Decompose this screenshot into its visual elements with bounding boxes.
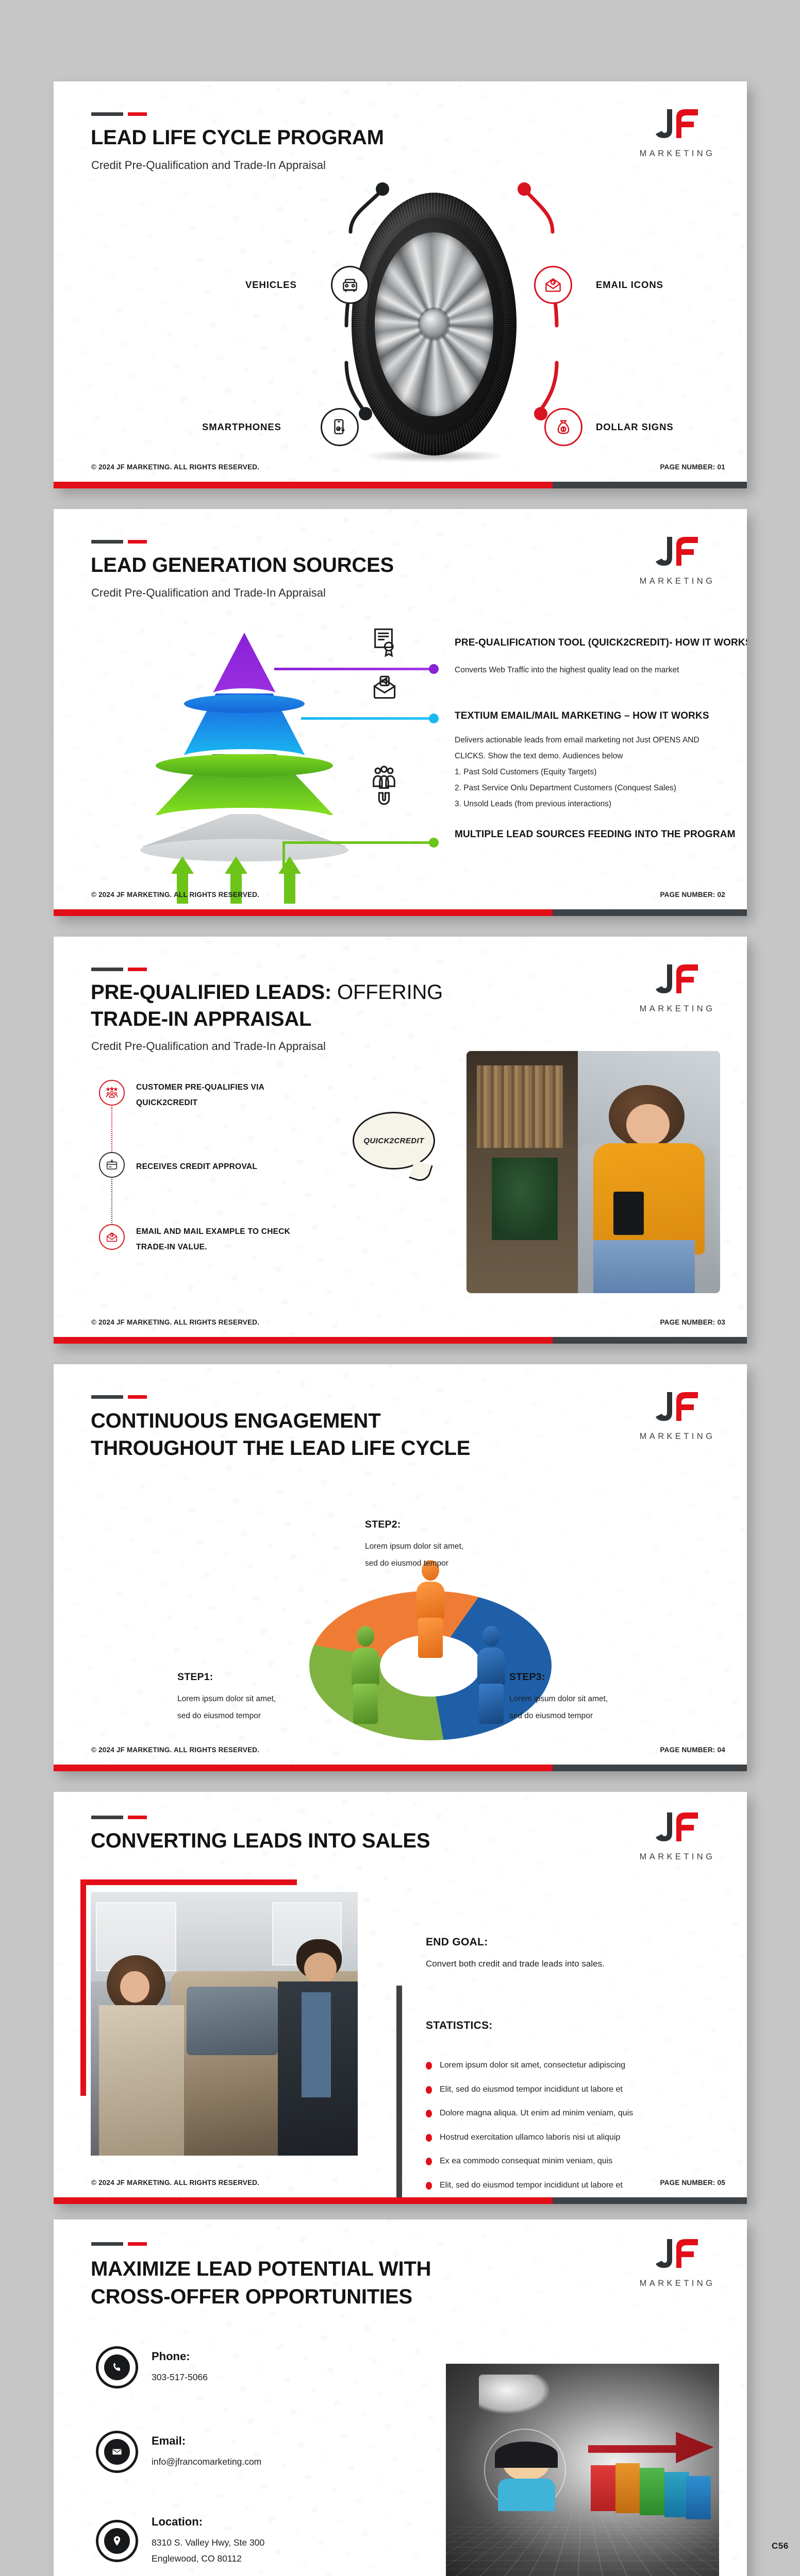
contact-value-email[interactable]: info@jfrancomarketing.com — [152, 2454, 261, 2470]
envelope-icon — [96, 2431, 138, 2473]
contact-label-phone: Phone: — [152, 2350, 208, 2363]
end-goal-label: END GOAL: — [426, 1936, 488, 1948]
list-item-text: Ex ea commodo consequat minim veniam, qu… — [440, 2156, 612, 2167]
slide-6[interactable]: MAXIMIZE LEAD POTENTIAL WITH CROSS-OFFER… — [54, 2219, 747, 2576]
jf-monogram-icon — [652, 106, 703, 145]
page-title: LEAD GENERATION SOURCES — [91, 553, 394, 578]
item-body-line: 3. Unsold Leads (from previous interacti… — [455, 796, 747, 812]
statistics-label: STATISTICS: — [426, 2020, 493, 2032]
connector-endpoint-bottom-left — [359, 407, 372, 420]
node-label-email-icons: EMAIL ICONS — [596, 279, 663, 291]
footer-copyright: © 2024 JF MARKETING. ALL RIGHTS RESERVED… — [91, 1318, 259, 1326]
bullet-dot-icon — [426, 2134, 432, 2142]
person-figure-orange — [414, 1560, 446, 1658]
item-heading: MULTIPLE LEAD SOURCES FEEDING INTO THE P… — [455, 827, 747, 842]
page-title: CONVERTING LEADS INTO SALES — [91, 1829, 430, 1853]
person-figure-green — [349, 1626, 381, 1724]
step-body-2: Lorem ipsum dolor sit amet, sed do eiusm… — [365, 1538, 463, 1572]
node-dollar-signs[interactable] — [544, 408, 582, 446]
step-body-3: Lorem ipsum dolor sit amet, sed do eiusm… — [509, 1691, 608, 1724]
step-divider — [111, 1107, 112, 1158]
item-body-line: 1. Past Sold Customers (Equity Targets) — [455, 764, 747, 780]
step-text-credit-approval: RECEIVES CREDIT APPROVAL — [136, 1159, 257, 1175]
audience-magnet-icon — [369, 765, 399, 809]
connector-blue — [301, 717, 434, 720]
contact-value-phone[interactable]: 303-517-5066 — [152, 2369, 208, 2385]
speech-bubble-text: QUICK2CREDIT — [363, 1137, 424, 1145]
footer-page-number: PAGE NUMBER: 05 — [660, 2179, 725, 2187]
contact-phone[interactable]: Phone: 303-517-5066 — [96, 2346, 208, 2388]
footer-copyright: © 2024 JF MARKETING. ALL RIGHTS RESERVED… — [91, 1746, 259, 1754]
brand-logo[interactable]: MARKETING — [628, 2236, 726, 2289]
page-subtitle: Credit Pre-Qualification and Trade-In Ap… — [91, 1040, 326, 1053]
jf-monogram-icon — [652, 534, 703, 573]
presentation-deck: LEAD LIFE CYCLE PROGRAM Credit Pre-Quali… — [0, 0, 800, 2576]
footer-page-number: PAGE NUMBER: 04 — [660, 1746, 725, 1754]
slide-5[interactable]: CONVERTING LEADS INTO SALES MARKETING — [54, 1792, 747, 2204]
document-code-label: C56 — [772, 2541, 789, 2551]
step-divider — [111, 1179, 112, 1229]
list-item: Lorem ipsum dolor sit amet, consectetur … — [426, 2060, 735, 2071]
connector-green — [282, 841, 434, 844]
step-text-email-mail: EMAIL AND MAIL EXAMPLE TO CHECK TRADE-IN… — [136, 1224, 290, 1255]
connector-endpoint-top-left — [376, 182, 389, 196]
node-email-icons[interactable] — [534, 266, 572, 304]
list-item-text: Elit, sed do eiusmod tempor incididunt u… — [440, 2180, 623, 2191]
end-goal-text: Convert both credit and trade leads into… — [426, 1959, 605, 1969]
email-icon — [543, 275, 563, 295]
footer-page-number: PAGE NUMBER: 01 — [660, 463, 725, 471]
page-subtitle: Credit Pre-Qualification and Trade-In Ap… — [91, 159, 326, 172]
brand-logo[interactable]: MARKETING — [628, 1389, 726, 1442]
smartphone-icon — [330, 417, 349, 437]
footer-bar — [54, 1337, 747, 1344]
item-heading: PRE-QUALIFICATION TOOL (QUICK2CREDIT)- H… — [455, 636, 747, 651]
page-title: MAXIMIZE LEAD POTENTIAL WITH CROSS-OFFER… — [91, 2256, 431, 2311]
step-icon-prequalify[interactable] — [99, 1080, 125, 1106]
node-vehicles[interactable] — [331, 266, 369, 304]
title-rule — [91, 540, 147, 544]
jf-monogram-icon — [652, 2236, 703, 2275]
connector-endpoint-top-right — [518, 182, 531, 196]
title-rule — [91, 968, 147, 971]
item-body-line: Converts Web Traffic into the highest qu… — [455, 662, 747, 678]
page-title: LEAD LIFE CYCLE PROGRAM — [91, 126, 384, 150]
list-item-text: Dolore magna aliqua. Ut enim ad minim ve… — [440, 2108, 633, 2119]
slide-3[interactable]: PRE-QUALIFIED LEADS: OFFERINGTRADE-IN AP… — [54, 937, 747, 1344]
item-multiple-lead-sources: MULTIPLE LEAD SOURCES FEEDING INTO THE P… — [455, 827, 747, 842]
footer-page-number: PAGE NUMBER: 03 — [660, 1318, 725, 1326]
node-label-vehicles: VEHICLES — [245, 279, 297, 291]
step-label-3: STEP3: — [509, 1671, 545, 1683]
list-item-text: Elit, sed do eiusmod tempor incididunt u… — [440, 2084, 623, 2095]
dealership-photo — [91, 1892, 358, 2156]
footer-copyright: © 2024 JF MARKETING. ALL RIGHTS RESERVED… — [91, 463, 259, 471]
success-infographic-photo — [446, 2364, 719, 2576]
bullet-dot-icon — [426, 2158, 432, 2165]
brand-logo-subtext: MARKETING — [628, 2279, 726, 2289]
money-bag-icon — [554, 417, 573, 437]
title-rule — [91, 2242, 147, 2246]
contact-label-email: Email: — [152, 2434, 261, 2448]
slide-4[interactable]: CONTINUOUS ENGAGEMENT THROUGHOUT THE LEA… — [54, 1364, 747, 1771]
item-textium-marketing: TEXTIUM EMAIL/MAIL MARKETING – HOW IT WO… — [455, 709, 747, 812]
page-title-strong: PRE-QUALIFIED LEADS: — [91, 981, 331, 1004]
audience-star-icon — [105, 1086, 119, 1099]
brand-logo-subtext: MARKETING — [628, 1852, 726, 1862]
footer-page-number: PAGE NUMBER: 02 — [660, 891, 725, 899]
title-rule — [91, 1816, 147, 1819]
step-label-1: STEP1: — [177, 1671, 213, 1683]
list-item-text: Hostrud exercitation ullamco laboris nis… — [440, 2132, 620, 2143]
brand-logo-subtext: MARKETING — [628, 149, 726, 159]
customer-photo — [466, 1051, 720, 1293]
credit-card-icon — [105, 1158, 119, 1172]
email-megaphone-icon — [370, 674, 399, 703]
slide-1[interactable]: LEAD LIFE CYCLE PROGRAM Credit Pre-Quali… — [54, 81, 747, 488]
phone-icon — [96, 2346, 138, 2388]
connector-green-riser — [282, 841, 285, 873]
item-body-line: Delivers actionable leads from email mar… — [455, 732, 747, 748]
step-icon-email-mail[interactable] — [99, 1224, 125, 1250]
page-title-light: OFFERING — [331, 981, 443, 1004]
node-label-dollar-signs: DOLLAR SIGNS — [596, 421, 674, 433]
footer-bar — [54, 482, 747, 488]
jf-monogram-icon — [652, 1809, 703, 1849]
list-item: Dolore magna aliqua. Ut enim ad minim ve… — [426, 2108, 735, 2119]
page-title: PRE-QUALIFIED LEADS: OFFERINGTRADE-IN AP… — [91, 979, 443, 1032]
step-label-2: STEP2: — [365, 1519, 401, 1531]
jf-monogram-icon — [652, 1389, 703, 1428]
inflow-arrow — [278, 856, 301, 904]
connector-endpoint-bottom-right — [534, 407, 547, 420]
person-figure-blue — [475, 1626, 507, 1724]
contact-value-location[interactable]: 8310 S. Valley Hwy, Ste 300 Englewood, C… — [152, 2535, 264, 2566]
connector-purple — [274, 668, 434, 670]
page-subtitle: Credit Pre-Qualification and Trade-In Ap… — [91, 586, 326, 600]
email-at-icon — [105, 1230, 119, 1244]
brand-logo[interactable]: MARKETING — [628, 534, 726, 586]
slide-2[interactable]: LEAD GENERATION SOURCES Credit Pre-Quali… — [54, 509, 747, 916]
footer-bar — [54, 1765, 747, 1771]
bullet-dot-icon — [426, 2182, 432, 2190]
bullet-dot-icon — [426, 2110, 432, 2117]
truck-icon — [340, 275, 360, 295]
brand-logo-subtext: MARKETING — [628, 1004, 726, 1014]
brand-logo[interactable]: MARKETING — [628, 1809, 726, 1862]
step-icon-credit-approval[interactable] — [99, 1152, 125, 1178]
item-prequalification-tool: PRE-QUALIFICATION TOOL (QUICK2CREDIT)- H… — [455, 636, 747, 678]
page-title: CONTINUOUS ENGAGEMENT THROUGHOUT THE LEA… — [91, 1408, 470, 1462]
contact-location[interactable]: Location: 8310 S. Valley Hwy, Ste 300 En… — [96, 2515, 264, 2566]
brand-logo[interactable]: MARKETING — [628, 106, 726, 159]
step-text-prequalify: CUSTOMER PRE-QUALIFIES VIA QUICK2CREDIT — [136, 1080, 264, 1111]
list-item: Hostrud exercitation ullamco laboris nis… — [426, 2132, 735, 2143]
contact-email[interactable]: Email: info@jfrancomarketing.com — [96, 2431, 261, 2473]
lead-funnel-graphic — [141, 633, 347, 854]
list-item: Elit, sed do eiusmod tempor incididunt u… — [426, 2084, 735, 2095]
bullet-dot-icon — [426, 2086, 432, 2094]
speech-bubble: QUICK2CREDIT — [353, 1112, 435, 1170]
page-title-line2: TRADE-IN APPRAISAL — [91, 1008, 311, 1030]
location-pin-icon — [96, 2520, 138, 2562]
node-label-smartphones: SMARTPHONES — [202, 421, 281, 433]
title-rule — [91, 1395, 147, 1399]
node-smartphones[interactable] — [321, 408, 359, 446]
item-body-line: 2. Past Service Onlu Department Customer… — [455, 780, 747, 796]
list-item-text: Lorem ipsum dolor sit amet, consectetur … — [440, 2060, 625, 2071]
certificate-icon — [369, 626, 398, 658]
item-heading: TEXTIUM EMAIL/MAIL MARKETING – HOW IT WO… — [455, 709, 747, 724]
step-body-1: Lorem ipsum dolor sit amet, sed do eiusm… — [177, 1691, 276, 1724]
item-body-line: CLICKS. Show the text demo. Audiences be… — [455, 748, 747, 764]
brand-logo-subtext: MARKETING — [628, 1432, 726, 1442]
list-item: Ex ea commodo consequat minim veniam, qu… — [426, 2156, 735, 2167]
footer-copyright: © 2024 JF MARKETING. ALL RIGHTS RESERVED… — [91, 891, 259, 899]
footer-bar — [54, 2197, 747, 2204]
brand-logo[interactable]: MARKETING — [628, 961, 726, 1014]
footer-bar — [54, 909, 747, 916]
title-rule — [91, 112, 147, 116]
contact-label-location: Location: — [152, 2515, 264, 2529]
jf-monogram-icon — [652, 961, 703, 1001]
bullet-dot-icon — [426, 2062, 432, 2070]
footer-copyright: © 2024 JF MARKETING. ALL RIGHTS RESERVED… — [91, 2179, 259, 2187]
brand-logo-subtext: MARKETING — [628, 577, 726, 586]
